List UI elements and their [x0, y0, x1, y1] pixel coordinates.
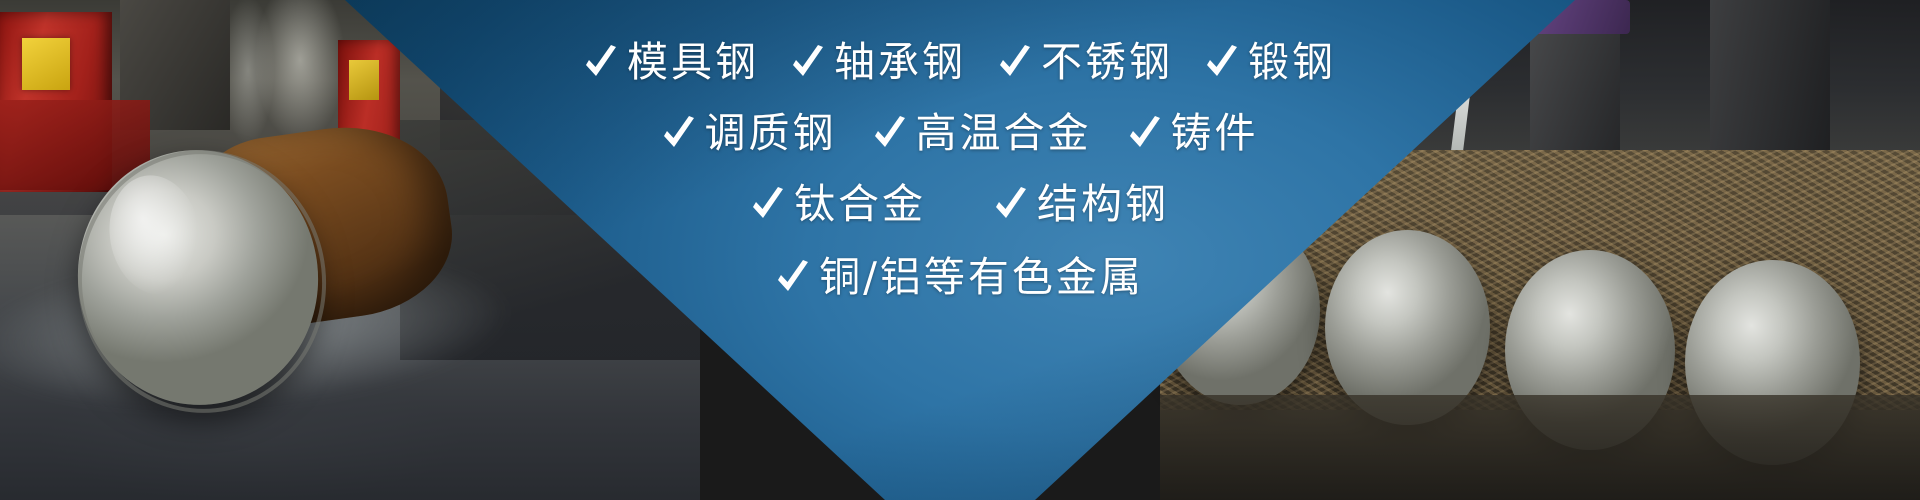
category-row-2: 调质钢 高温合金 铸件 [340, 113, 1580, 154]
category-label: 钛合金 [794, 184, 926, 225]
category-item[interactable]: 结构钢 [994, 184, 1169, 225]
category-item[interactable]: 铸件 [1128, 113, 1259, 154]
check-mark-icon [751, 185, 785, 225]
category-item[interactable]: 钛合金 [751, 184, 926, 225]
category-row-1: 模具钢 轴承钢 不锈钢 锻钢 [340, 42, 1580, 83]
category-item[interactable]: 调质钢 [662, 113, 837, 154]
check-mark-icon [1128, 114, 1162, 154]
category-label: 结构钢 [1037, 184, 1169, 225]
category-row-4: 铜/铝等有色金属 [340, 257, 1580, 298]
check-mark-icon [662, 114, 696, 154]
category-label: 高温合金 [916, 113, 1092, 154]
category-label: 铜/铝等有色金属 [819, 257, 1144, 298]
category-item[interactable]: 铜/铝等有色金属 [776, 257, 1144, 298]
check-mark-icon [776, 258, 810, 298]
category-item[interactable]: 不锈钢 [998, 42, 1173, 83]
category-label: 铸件 [1171, 113, 1259, 154]
category-list: 模具钢 轴承钢 不锈钢 锻钢 [340, 0, 1580, 500]
category-item[interactable]: 轴承钢 [791, 42, 966, 83]
left-yellow-warning-plate [22, 38, 70, 90]
category-label: 模具钢 [627, 42, 759, 83]
product-categories-banner: 模具钢 轴承钢 不锈钢 锻钢 [0, 0, 1920, 500]
check-mark-icon [994, 185, 1028, 225]
check-mark-icon [584, 43, 618, 83]
category-item[interactable]: 锻钢 [1205, 42, 1336, 83]
category-label: 调质钢 [705, 113, 837, 154]
category-label: 不锈钢 [1041, 42, 1173, 83]
check-mark-icon [873, 114, 907, 154]
category-row-3: 钛合金 结构钢 [340, 184, 1580, 225]
check-mark-icon [791, 43, 825, 83]
category-item[interactable]: 模具钢 [584, 42, 759, 83]
category-label: 锻钢 [1248, 42, 1336, 83]
category-label: 轴承钢 [834, 42, 966, 83]
check-mark-icon [1205, 43, 1239, 83]
check-mark-icon [998, 43, 1032, 83]
category-item[interactable]: 高温合金 [873, 113, 1092, 154]
